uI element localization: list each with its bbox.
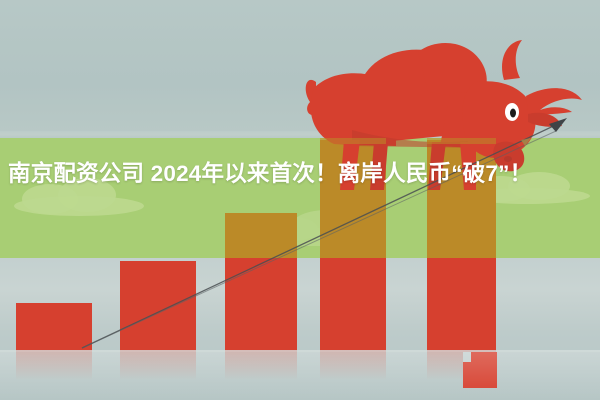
bar-3-red-segment	[225, 258, 297, 350]
bar-1-red-segment	[16, 303, 92, 350]
bull-pupil	[510, 109, 516, 118]
bar-2-red-segment	[120, 261, 196, 350]
bull-horn-right	[526, 88, 582, 114]
bar-4-grass-overlap	[320, 138, 386, 144]
floor-gloss	[0, 352, 600, 400]
headline-text: 南京配资公司 2024年以来首次！离岸人民币“破7”！	[0, 152, 600, 195]
bar-1	[16, 303, 92, 350]
bar-4-red-segment	[320, 258, 386, 350]
cloud-shape	[14, 196, 144, 216]
bar-5-red-segment	[427, 258, 496, 350]
banner-image: 南京配资公司 2024年以来首次！离岸人民币“破7”！	[0, 0, 600, 400]
bar-2	[120, 261, 196, 350]
bar-3	[225, 213, 297, 350]
bar-3-gold-segment	[225, 213, 297, 258]
bull-horn-left	[502, 40, 522, 80]
bar-5-grass-overlap	[427, 138, 496, 144]
